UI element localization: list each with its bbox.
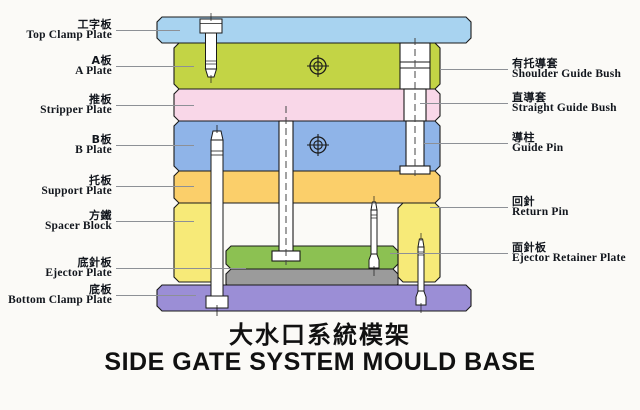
- label-straight-guide-bush: 直導套 Straight Guide Bush: [512, 92, 617, 115]
- label-b-plate: B板 B Plate: [0, 134, 112, 157]
- label-stripper-plate: 推板 Stripper Plate: [0, 94, 112, 117]
- label-ejector-plate: 底針板 Ejector Plate: [0, 257, 112, 280]
- leader-b-plate: [116, 145, 194, 146]
- label-en: Return Pin: [512, 207, 569, 219]
- label-en: Straight Guide Bush: [512, 103, 617, 115]
- label-top-clamp-plate: 工字板 Top Clamp Plate: [0, 19, 112, 42]
- label-ejector-retainer-plate: 面針板 Ejector Retainer Plate: [512, 242, 626, 265]
- leader-top-clamp-plate: [116, 30, 180, 31]
- label-en: Ejector Retainer Plate: [512, 253, 626, 265]
- label-en: B Plate: [0, 145, 112, 157]
- label-support-plate: 托板 Support Plate: [0, 175, 112, 198]
- label-bottom-clamp-plate: 底板 Bottom Clamp Plate: [0, 284, 112, 307]
- label-en: Guide Pin: [512, 143, 563, 155]
- leader-ejector-plate: [116, 268, 246, 269]
- leader-shoulder-guide-bush: [440, 69, 508, 70]
- label-en: Shoulder Guide Bush: [512, 69, 621, 81]
- label-en: Ejector Plate: [0, 268, 112, 280]
- leader-stripper-plate: [116, 105, 194, 106]
- leader-straight-guide-bush: [420, 103, 508, 104]
- label-en: Top Clamp Plate: [0, 30, 112, 42]
- leader-return-pin: [430, 207, 508, 208]
- label-shoulder-guide-bush: 有托導套 Shoulder Guide Bush: [512, 58, 621, 81]
- title-english: SIDE GATE SYSTEM MOULD BASE: [0, 348, 640, 377]
- leader-a-plate: [116, 66, 194, 67]
- leader-guide-pin: [424, 143, 508, 144]
- label-en: A Plate: [0, 66, 112, 78]
- leader-bottom-clamp-plate: [116, 295, 196, 296]
- part-stripper-plate: [174, 89, 440, 121]
- diagram-root: 工字板 Top Clamp Plate A板 A Plate 推板 Stripp…: [0, 0, 640, 410]
- label-spacer-block: 方鐵 Spacer Block: [0, 210, 112, 233]
- label-en: Spacer Block: [0, 221, 112, 233]
- leader-ejector-retainer-plate: [390, 253, 508, 254]
- title-chinese: 大水口系統模架: [0, 315, 640, 350]
- label-en: Stripper Plate: [0, 105, 112, 117]
- label-a-plate: A板 A Plate: [0, 55, 112, 78]
- part-ejector-pin: [369, 196, 379, 276]
- leader-support-plate: [116, 186, 194, 187]
- leader-spacer-block: [116, 221, 194, 222]
- label-return-pin: 回針 Return Pin: [512, 196, 569, 219]
- label-en: Bottom Clamp Plate: [0, 295, 112, 307]
- label-guide-pin: 導柱 Guide Pin: [512, 132, 563, 155]
- label-en: Support Plate: [0, 186, 112, 198]
